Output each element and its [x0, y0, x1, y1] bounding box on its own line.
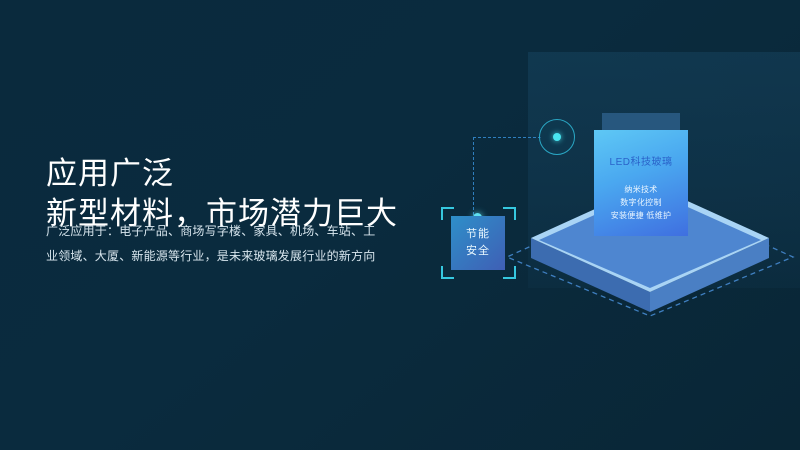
badge-label-line-2: 安全: [466, 243, 490, 260]
panel-feature-item: 数字化控制: [594, 196, 688, 209]
connector-horizontal: [473, 137, 541, 138]
body-copy: 广泛应用于：电子产品、商场写字楼、家具、机场、车站、工业领域、大厦、新能源等行业…: [46, 219, 376, 269]
info-panel: LED科技玻璃 纳米技术 数字化控制 安装便捷 低维护: [594, 130, 688, 236]
panel-feature-list: 纳米技术 数字化控制 安装便捷 低维护: [594, 183, 688, 222]
badge-label-line-1: 节能: [466, 226, 490, 243]
slide-canvas: LED科技玻璃 纳米技术 数字化控制 安装便捷 低维护 节能 安全 应用广泛 新…: [0, 0, 800, 450]
node-dot-icon: [553, 133, 561, 141]
feature-badge: 节能 安全: [451, 216, 505, 270]
headline-line-1: 应用广泛: [46, 156, 174, 191]
panel-feature-item: 纳米技术: [594, 183, 688, 196]
panel-feature-item: 安装便捷 低维护: [594, 209, 688, 222]
panel-title: LED科技玻璃: [594, 153, 688, 168]
